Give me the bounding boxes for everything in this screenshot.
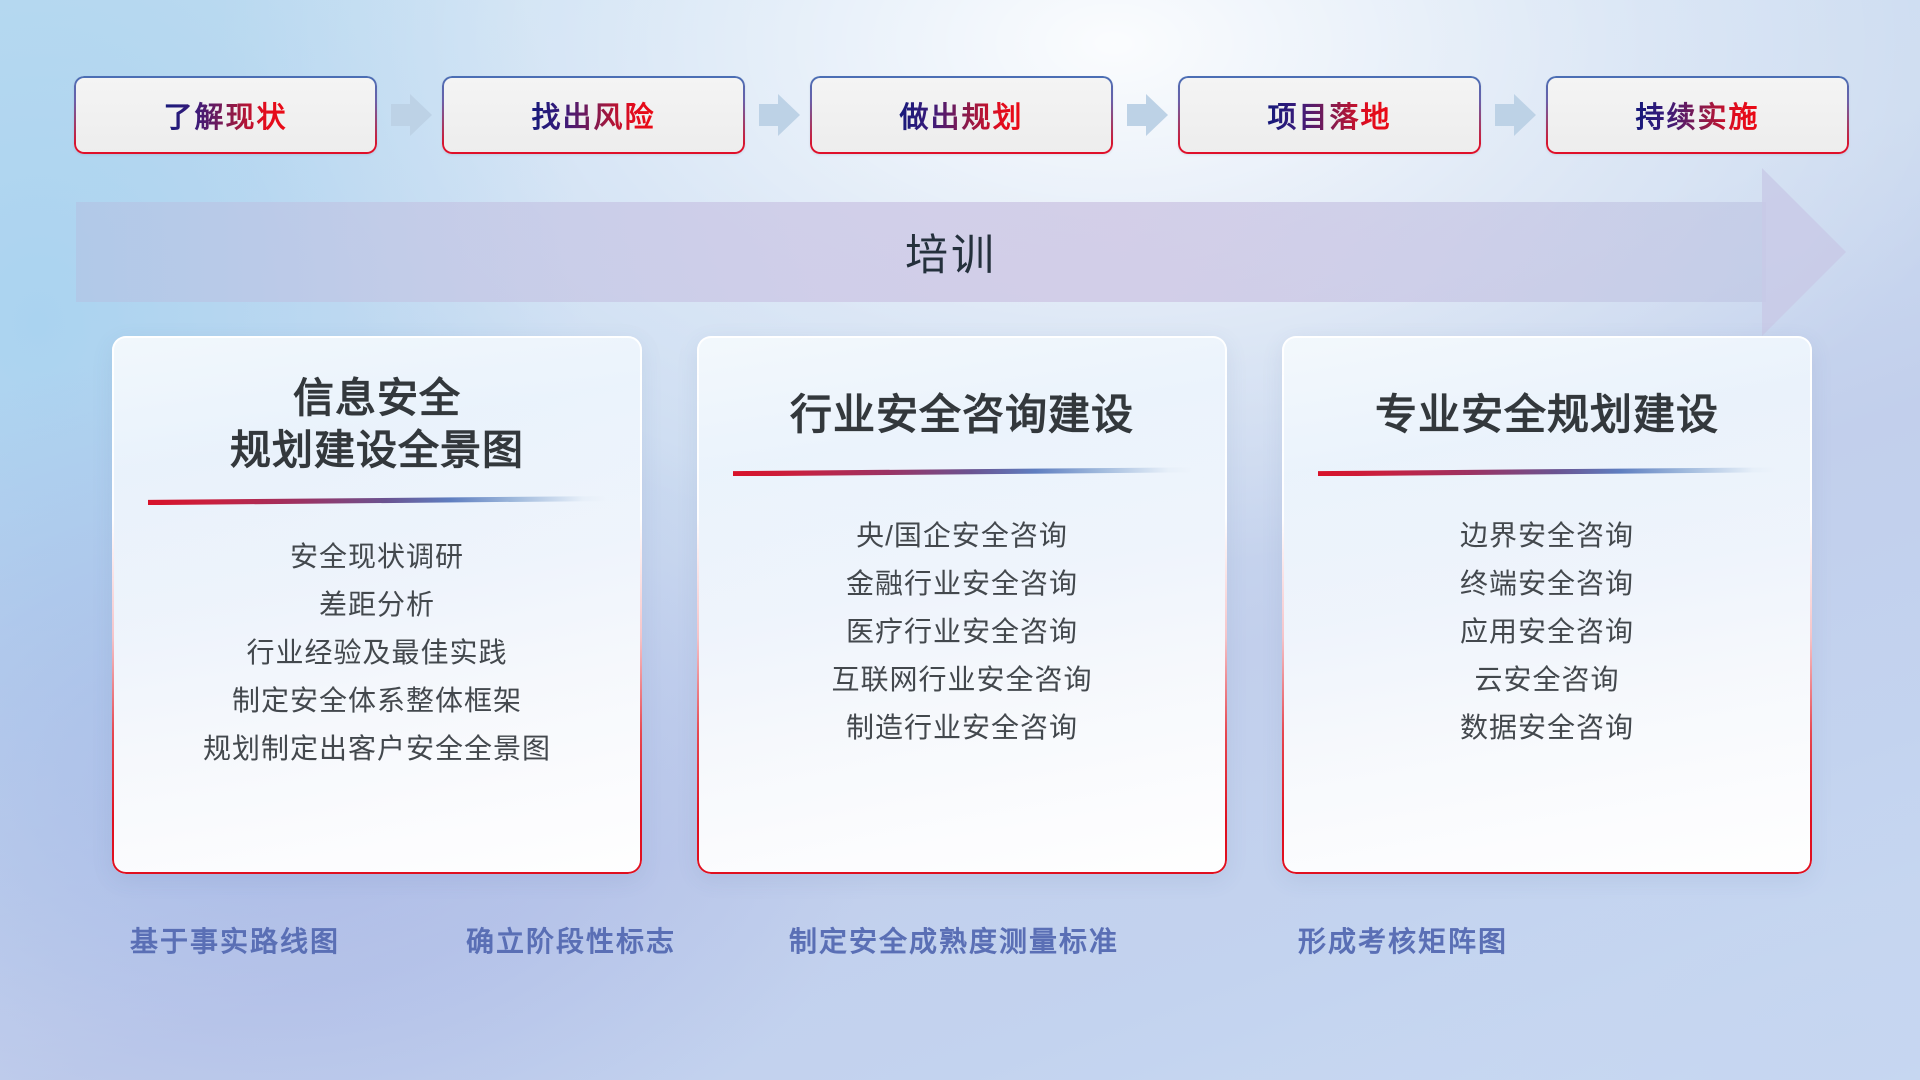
card-industry-security-consulting[interactable]: 行业安全咨询建设 央/国企安全咨询 金融行业安全咨询 医疗行业安全咨询 互联网行… (697, 336, 1227, 874)
right-arrow-icon-4 (1481, 91, 1546, 139)
right-arrow-icon-1 (377, 91, 442, 139)
list-item: 数据安全咨询 (1308, 704, 1786, 752)
step-button-4[interactable]: 项目落地 (1178, 76, 1481, 154)
card-professional-security-planning[interactable]: 专业安全规划建设 边界安全咨询 终端安全咨询 应用安全咨询 云安全咨询 数据安全… (1282, 336, 1812, 874)
card-information-security-panorama[interactable]: 信息安全 规划建设全景图 安全现状调研 差距分析 行业经验及最佳实践 制定安全体… (112, 336, 642, 874)
list-item: 互联网行业安全咨询 (723, 656, 1201, 704)
card-divider (733, 467, 1191, 476)
card-item-list: 安全现状调研 差距分析 行业经验及最佳实践 制定安全体系整体框架 规划制定出客户… (138, 533, 616, 773)
step-button-3[interactable]: 做出规划 (810, 76, 1113, 154)
list-item: 规划制定出客户安全全景图 (138, 725, 616, 773)
arrow-head (1514, 94, 1536, 136)
footnote-label-4: 形成考核矩阵图 (1298, 920, 1508, 960)
card-row: 信息安全 规划建设全景图 安全现状调研 差距分析 行业经验及最佳实践 制定安全体… (112, 336, 1812, 874)
step-button-label: 持续实施 (1635, 94, 1759, 136)
list-item: 差距分析 (138, 581, 616, 629)
list-item: 云安全咨询 (1308, 656, 1786, 704)
list-item: 行业经验及最佳实践 (138, 629, 616, 677)
list-item: 应用安全咨询 (1308, 608, 1786, 656)
card-title: 信息安全 规划建设全景图 (230, 372, 524, 476)
footnote-label-2: 确立阶段性标志 (466, 920, 676, 960)
step-button-label: 找出风险 (531, 94, 655, 136)
step-button-1[interactable]: 了解现状 (74, 76, 377, 154)
list-item: 金融行业安全咨询 (723, 560, 1201, 608)
card-title: 专业安全规划建设 (1375, 388, 1719, 441)
step-button-label: 项目落地 (1267, 94, 1391, 136)
list-item: 终端安全咨询 (1308, 560, 1786, 608)
card-divider (1318, 467, 1776, 476)
card-item-list: 边界安全咨询 终端安全咨询 应用安全咨询 云安全咨询 数据安全咨询 (1308, 512, 1786, 752)
arrow-head (410, 94, 432, 136)
list-item: 边界安全咨询 (1308, 512, 1786, 560)
arrow-head (778, 94, 800, 136)
step-button-5[interactable]: 持续实施 (1546, 76, 1849, 154)
list-item: 安全现状调研 (138, 533, 616, 581)
training-banner-arrow: 培训 (76, 202, 1846, 302)
card-item-list: 央/国企安全咨询 金融行业安全咨询 医疗行业安全咨询 互联网行业安全咨询 制造行… (723, 512, 1201, 752)
banner-arrow-head-icon (1762, 168, 1846, 336)
list-item: 制造行业安全咨询 (723, 704, 1201, 752)
footnote-label-3: 制定安全成熟度测量标准 (789, 920, 1119, 960)
step-button-2[interactable]: 找出风险 (442, 76, 745, 154)
list-item: 制定安全体系整体框架 (138, 677, 616, 725)
step-button-label: 了解现状 (163, 94, 287, 136)
right-arrow-icon-2 (745, 91, 810, 139)
step-button-label: 做出规划 (899, 94, 1023, 136)
slide-canvas: 了解现状 找出风险 做出规划 项目落地 持续实施 (0, 0, 1920, 1080)
list-item: 央/国企安全咨询 (723, 512, 1201, 560)
banner-title: 培训 (76, 202, 1766, 302)
right-arrow-icon-3 (1113, 91, 1178, 139)
arrow-head (1146, 94, 1168, 136)
process-step-row: 了解现状 找出风险 做出规划 项目落地 持续实施 (74, 76, 1846, 154)
footnote-row: 基于事实路线图 确立阶段性标志 制定安全成熟度测量标准 形成考核矩阵图 (0, 920, 1920, 966)
footnote-label-1: 基于事实路线图 (130, 920, 340, 960)
card-divider (148, 496, 606, 505)
card-title: 行业安全咨询建设 (790, 388, 1134, 441)
list-item: 医疗行业安全咨询 (723, 608, 1201, 656)
